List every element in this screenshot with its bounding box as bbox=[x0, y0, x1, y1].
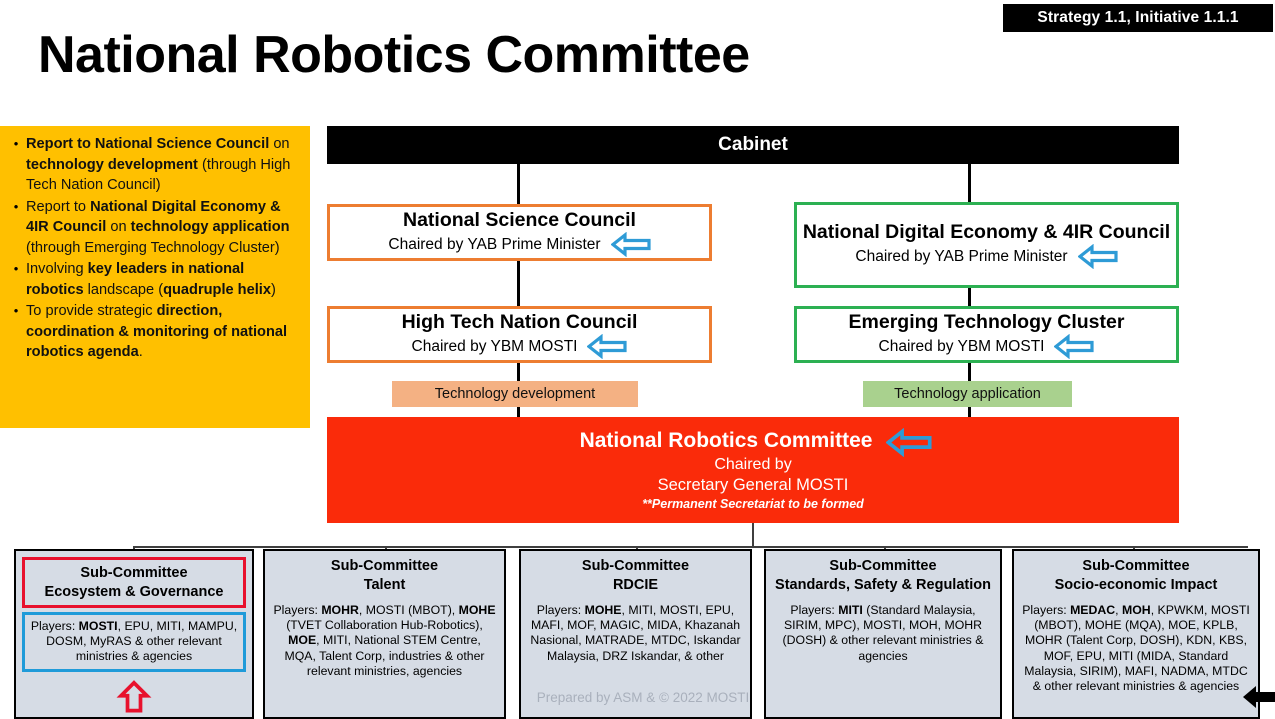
sub-committee-title: Sub-Committee Talent bbox=[271, 557, 498, 594]
flow-label-technology-development: Technology development bbox=[392, 381, 638, 407]
sub-committee-players: Players: MOSTI, EPU, MITI, MAMPU, DOSM, … bbox=[22, 612, 246, 672]
node-emerging-technology-cluster[interactable]: Emerging Technology Cluster Chaired by Y… bbox=[794, 306, 1179, 363]
bullet-icon: • bbox=[6, 301, 26, 321]
connector-cabinet-to-nsc bbox=[517, 164, 520, 206]
committee-footnote: **Permanent Secretariat to be formed bbox=[642, 496, 864, 513]
up-arrow-icon bbox=[116, 680, 152, 713]
sub-committee-socio-economic-impact[interactable]: Sub-Committee Socio-economic Impact Play… bbox=[1012, 549, 1260, 719]
left-arrow-icon bbox=[1054, 334, 1094, 359]
left-arrow-icon bbox=[886, 428, 926, 453]
node-high-tech-nation-council[interactable]: High Tech Nation Council Chaired by YBM … bbox=[327, 306, 712, 363]
sub-committee-prefix: Sub-Committee bbox=[1020, 557, 1252, 576]
sub-committee-name: RDCIE bbox=[527, 576, 744, 595]
sub-committee-rdcie[interactable]: Sub-Committee RDCIE Players: MOHE, MITI,… bbox=[519, 549, 752, 719]
connector-ndec-to-etc bbox=[968, 288, 971, 306]
sub-committee-players: Players: MOHR, MOSTI (MBOT), MOHE (TVET … bbox=[271, 603, 498, 679]
sub-committee-title: Sub-Committee RDCIE bbox=[527, 557, 744, 594]
key-points-list: •Report to National Science Council on t… bbox=[6, 134, 300, 363]
key-points-panel: •Report to National Science Council on t… bbox=[0, 126, 310, 428]
connector-cabinet-to-ndec bbox=[968, 164, 971, 202]
sub-committee-talent[interactable]: Sub-Committee Talent Players: MOHR, MOST… bbox=[263, 549, 506, 719]
node-title: National Science Council bbox=[403, 209, 636, 232]
sub-committee-players: Players: MITI (Standard Malaysia, SIRIM,… bbox=[772, 603, 994, 664]
node-title: Emerging Technology Cluster bbox=[849, 311, 1125, 334]
committee-line2: Secretary General MOSTI bbox=[658, 475, 849, 496]
flow-label-technology-application: Technology application bbox=[863, 381, 1072, 407]
left-arrow-icon bbox=[1078, 244, 1118, 269]
sub-committee-name: Ecosystem & Governance bbox=[27, 583, 241, 602]
connector-bus-horizontal bbox=[133, 546, 1248, 548]
key-point-text: Involving key leaders in national roboti… bbox=[26, 259, 300, 300]
sub-committee-players: Players: MOHE, MITI, MOSTI, EPU, MAFI, M… bbox=[527, 603, 744, 664]
key-point-item: •To provide strategic direction, coordin… bbox=[6, 301, 300, 363]
node-cabinet[interactable]: Cabinet bbox=[327, 126, 1179, 164]
left-arrow-icon bbox=[587, 334, 627, 359]
node-subtitle: Chaired by YAB Prime Minister bbox=[388, 235, 600, 254]
sub-committee-title: Sub-Committee Standards, Safety & Regula… bbox=[772, 557, 994, 594]
connector-nrc-to-bus bbox=[752, 523, 754, 546]
cursor-left-arrow-icon bbox=[1243, 684, 1275, 710]
key-point-item: •Report to National Digital Economy & 4I… bbox=[6, 197, 300, 259]
sub-committee-prefix: Sub-Committee bbox=[527, 557, 744, 576]
sub-committee-name: Socio-economic Impact bbox=[1020, 576, 1252, 595]
sub-committee-prefix: Sub-Committee bbox=[271, 557, 498, 576]
node-subtitle: Chaired by YBM MOSTI bbox=[412, 337, 578, 356]
key-point-text: To provide strategic direction, coordina… bbox=[26, 301, 300, 363]
sub-committee-title: Sub-Committee Socio-economic Impact bbox=[1020, 557, 1252, 594]
bullet-icon: • bbox=[6, 259, 26, 279]
committee-title: National Robotics Committee bbox=[580, 428, 873, 454]
node-title: High Tech Nation Council bbox=[402, 311, 638, 334]
node-subtitle: Chaired by YBM MOSTI bbox=[879, 337, 1045, 356]
key-point-text: Report to National Digital Economy & 4IR… bbox=[26, 197, 300, 259]
node-national-robotics-committee[interactable]: National Robotics Committee Chaired by S… bbox=[327, 417, 1179, 523]
committee-line1: Chaired by bbox=[714, 454, 791, 475]
slide-canvas: Strategy 1.1, Initiative 1.1.1 National … bbox=[0, 0, 1275, 719]
sub-committee-prefix: Sub-Committee bbox=[27, 564, 241, 583]
node-national-science-council[interactable]: National Science Council Chaired by YAB … bbox=[327, 204, 712, 261]
left-arrow-icon bbox=[611, 232, 651, 257]
bullet-icon: • bbox=[6, 197, 26, 217]
bullet-icon: • bbox=[6, 134, 26, 154]
sub-committee-ecosystem-governance[interactable]: Sub-Committee Ecosystem & Governance Pla… bbox=[14, 549, 254, 719]
sub-committee-standards-safety-regulation[interactable]: Sub-Committee Standards, Safety & Regula… bbox=[764, 549, 1002, 719]
node-national-digital-economy-4ir-council[interactable]: National Digital Economy & 4IR Council C… bbox=[794, 202, 1179, 288]
key-point-text: Report to National Science Council on te… bbox=[26, 134, 300, 196]
node-title: National Digital Economy & 4IR Council bbox=[803, 221, 1170, 244]
sub-committee-players: Players: MEDAC, MOH, KPWKM, MOSTI (MBOT)… bbox=[1020, 603, 1252, 694]
sub-committee-name: Standards, Safety & Regulation bbox=[772, 576, 994, 595]
node-subtitle: Chaired by YAB Prime Minister bbox=[855, 247, 1067, 266]
connector-nsc-to-htnc bbox=[517, 261, 520, 306]
key-point-item: •Report to National Science Council on t… bbox=[6, 134, 300, 196]
sub-committee-prefix: Sub-Committee bbox=[772, 557, 994, 576]
page-title: National Robotics Committee bbox=[38, 28, 750, 83]
sub-committee-title: Sub-Committee Ecosystem & Governance bbox=[22, 557, 246, 608]
strategy-badge: Strategy 1.1, Initiative 1.1.1 bbox=[1003, 4, 1273, 32]
sub-committee-name: Talent bbox=[271, 576, 498, 595]
key-point-item: •Involving key leaders in national robot… bbox=[6, 259, 300, 300]
